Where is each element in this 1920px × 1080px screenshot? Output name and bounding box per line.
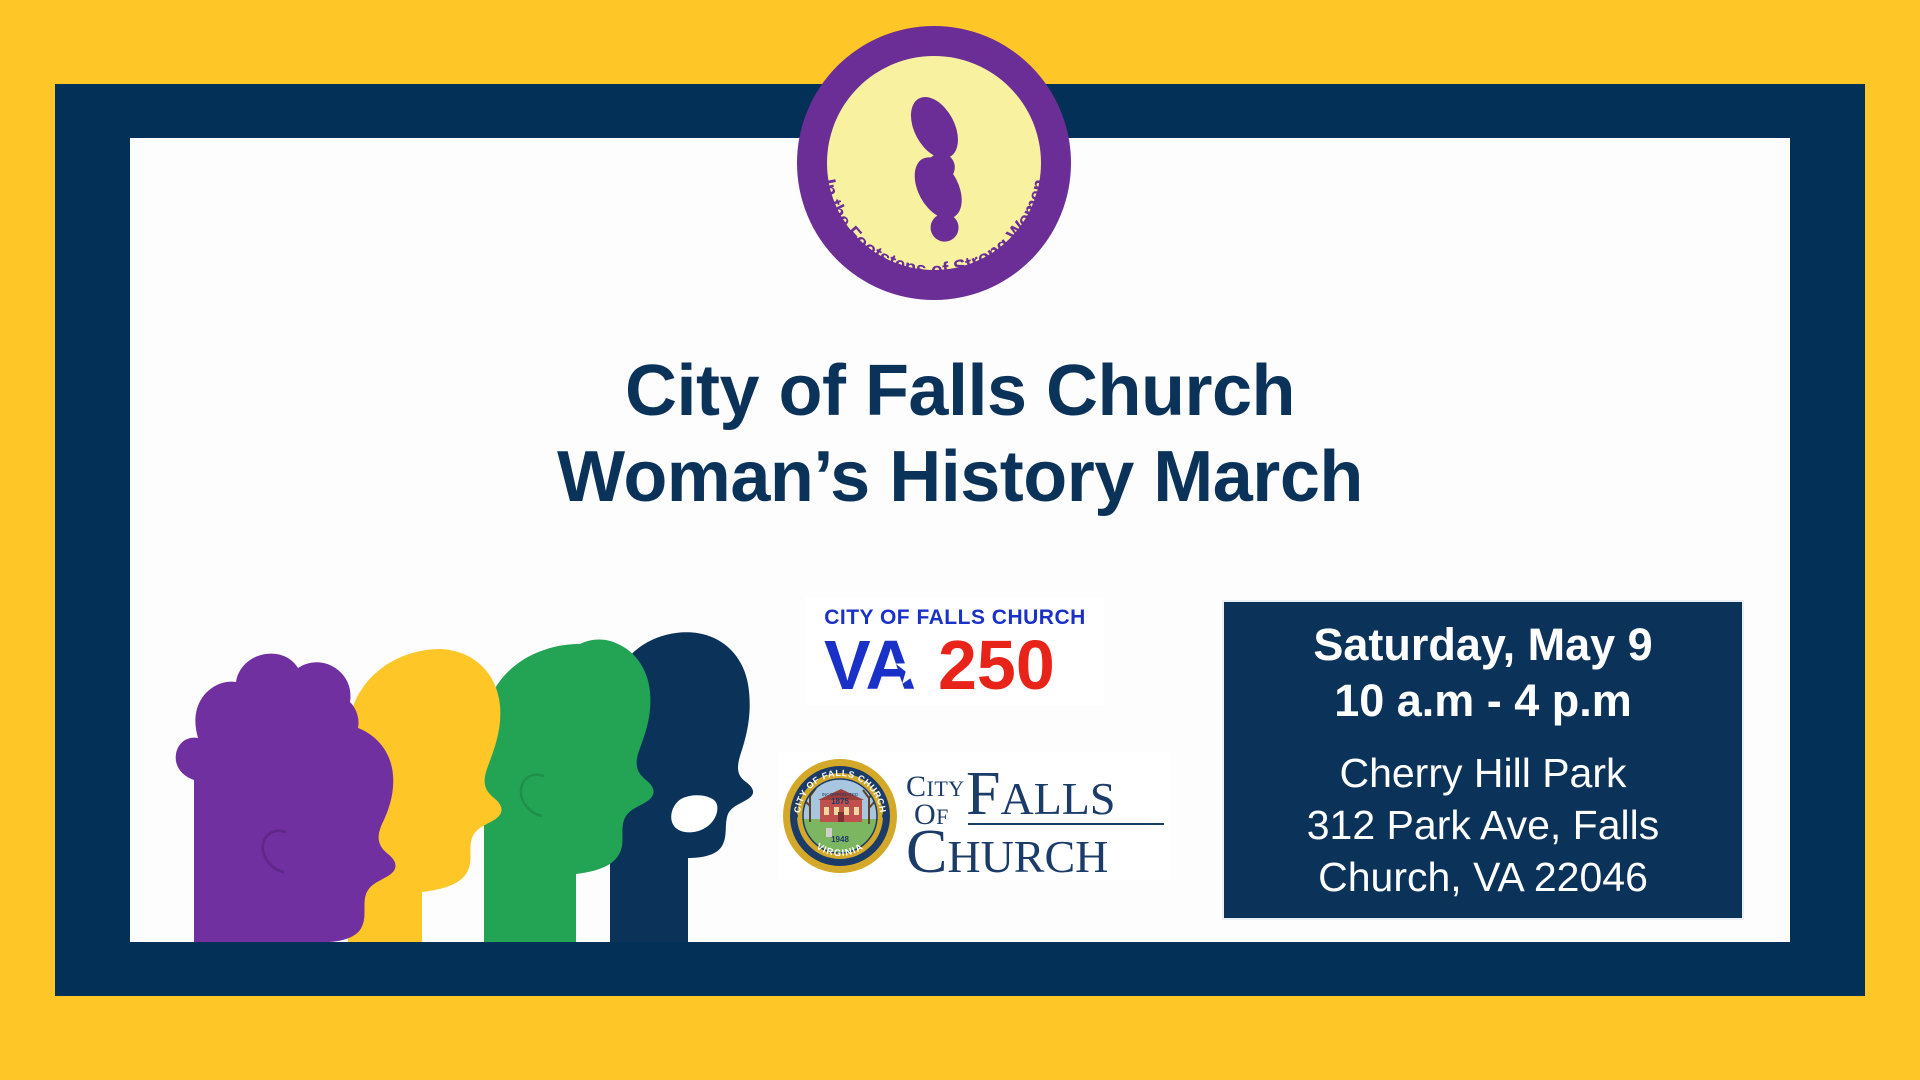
title-line-1: City of Falls Church — [130, 348, 1790, 434]
event-details-box: Saturday, May 9 10 a.m - 4 p.m Cherry Hi… — [1222, 600, 1744, 920]
falls-church-womens-history-seal: Falls Church Women’s History In the Foot… — [795, 24, 1073, 302]
venue-name: Cherry Hill Park — [1339, 747, 1626, 799]
event-time-line: 10 a.m - 4 p.m — [1334, 673, 1632, 729]
women-profile-silhouettes — [140, 580, 760, 942]
title-line-2: Woman’s History March — [130, 434, 1790, 520]
seal-year-top: 1875 — [831, 797, 849, 806]
va250-logo: CITY OF FALLS CHURCH VA 250 — [806, 597, 1104, 705]
page-title: City of Falls Church Woman’s History Mar… — [130, 348, 1790, 520]
event-flyer: CITY OF FALLS CHURCH VA 250 — [0, 0, 1920, 1080]
va250-number: 250 — [938, 626, 1055, 704]
venue-street: 312 Park Ave, Falls — [1307, 799, 1659, 851]
city-of-falls-church-logo: INCORPORATED 1875 1948 CITY OF FALLS CHU… — [778, 752, 1170, 880]
seal-year-bottom: 1948 — [831, 835, 849, 844]
event-date-line-1: Saturday, May 9 — [1313, 617, 1652, 673]
city-seal-icon: INCORPORATED 1875 1948 CITY OF FALLS CHU… — [783, 759, 897, 873]
venue-city-state-zip: Church, VA 22046 — [1318, 851, 1648, 903]
